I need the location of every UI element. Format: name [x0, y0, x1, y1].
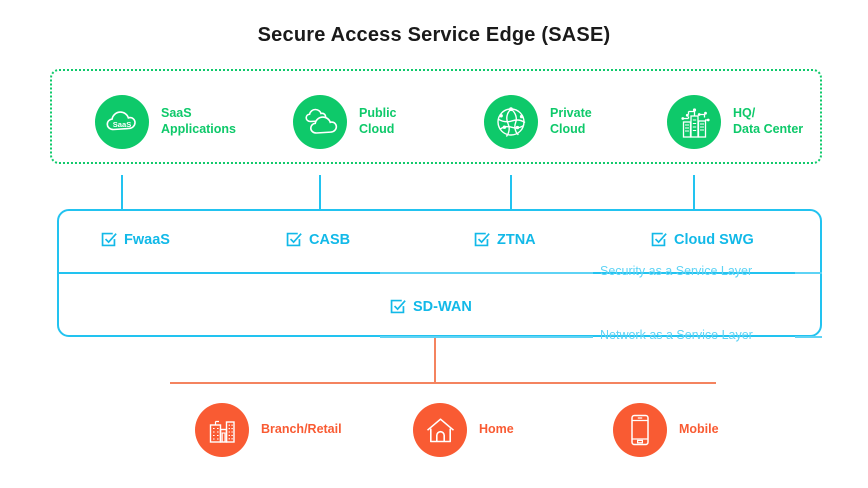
connector-hq-to-services [693, 175, 695, 211]
service-label: CASB [309, 232, 350, 248]
clouds-icon [293, 95, 347, 149]
connector-private-cloud-to-services [510, 175, 512, 211]
destination-label: Public Cloud [359, 106, 397, 137]
destination-node-public-cloud[interactable]: Public Cloud [293, 95, 397, 149]
data-center-building-icon [667, 95, 721, 149]
svg-text:SaaS: SaaS [113, 120, 132, 129]
service-label: Cloud SWG [674, 232, 754, 248]
network-layer-caption: Network as a Service Layer [600, 328, 753, 342]
edge-distribution-bus [170, 382, 716, 384]
service-label: SD-WAN [413, 299, 472, 315]
connector-saas-to-services [121, 175, 123, 211]
connector-services-to-edge-bus [434, 338, 436, 383]
checkbox-checked-icon [100, 231, 117, 248]
service-item-cloud-swg[interactable]: Cloud SWG [650, 231, 754, 248]
network-layer-caption-line-left [380, 336, 593, 338]
edge-node-home[interactable]: Home [413, 403, 514, 457]
destination-label: Private Cloud [550, 106, 592, 137]
edge-node-mobile[interactable]: Mobile [613, 403, 719, 457]
destination-node-hq-data-center[interactable]: HQ/ Data Center [667, 95, 803, 149]
network-layer-caption-line-right [795, 336, 822, 338]
destination-node-private-cloud[interactable]: Private Cloud [484, 95, 592, 149]
page-title: Secure Access Service Edge (SASE) [0, 24, 868, 47]
edge-label: Home [479, 422, 514, 438]
security-layer-caption: Security as a Service Layer [600, 264, 752, 278]
edge-label: Branch/Retail [261, 422, 342, 438]
house-icon [413, 403, 467, 457]
service-item-casb[interactable]: CASB [285, 231, 350, 248]
security-layer-caption-line-right [795, 272, 822, 274]
destination-label: HQ/ Data Center [733, 106, 803, 137]
checkbox-checked-icon [650, 231, 667, 248]
cloud-saas-icon: SaaS [95, 95, 149, 149]
service-label: ZTNA [497, 232, 536, 248]
sase-diagram: Secure Access Service Edge (SASE) SaaS S… [0, 0, 868, 488]
connector-public-cloud-to-services [319, 175, 321, 211]
service-item-sd-wan[interactable]: SD-WAN [389, 298, 472, 315]
destination-node-saas-applications[interactable]: SaaS SaaS Applications [95, 95, 236, 149]
checkbox-checked-icon [285, 231, 302, 248]
service-label: FwaaS [124, 232, 170, 248]
security-layer-caption-line-left [380, 272, 593, 274]
checkbox-checked-icon [389, 298, 406, 315]
checkbox-checked-icon [473, 231, 490, 248]
edge-node-branch-retail[interactable]: Branch/Retail [195, 403, 342, 457]
office-buildings-icon [195, 403, 249, 457]
edge-label: Mobile [679, 422, 719, 438]
destination-label: SaaS Applications [161, 106, 236, 137]
service-item-ztna[interactable]: ZTNA [473, 231, 536, 248]
service-item-fwaas[interactable]: FwaaS [100, 231, 170, 248]
globe-network-icon [484, 95, 538, 149]
smartphone-icon [613, 403, 667, 457]
